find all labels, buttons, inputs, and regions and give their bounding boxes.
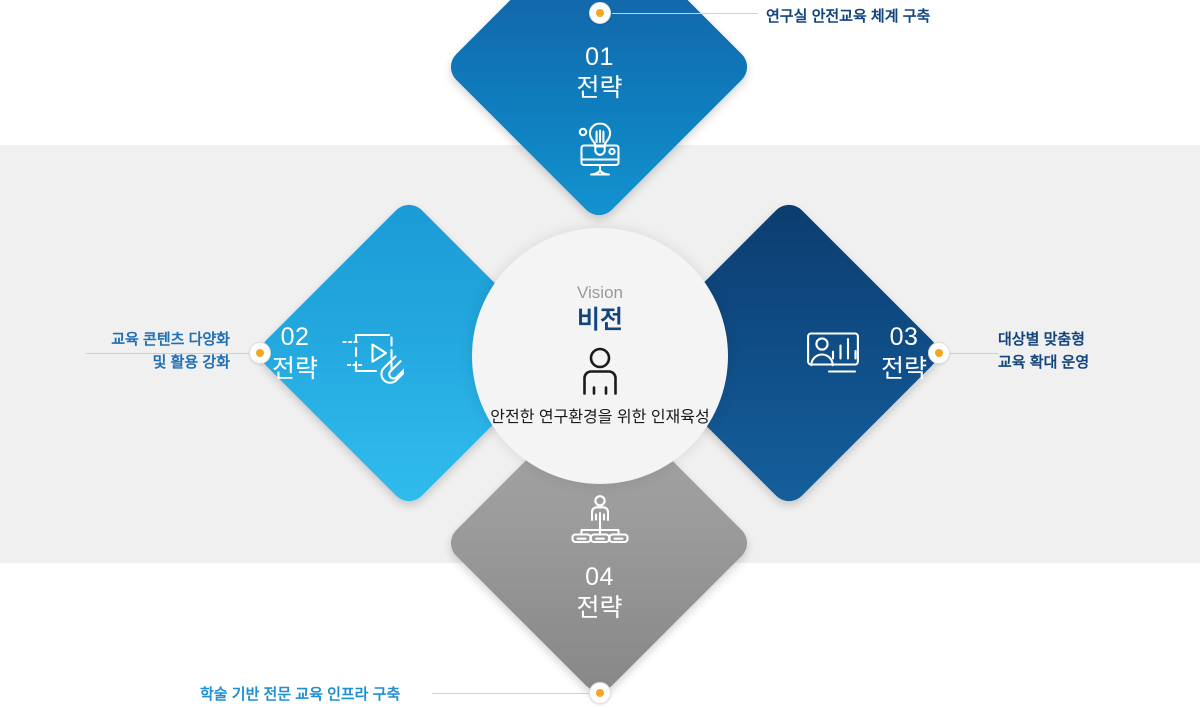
connector-dot-bottom <box>589 682 611 704</box>
connector-dot-top <box>589 2 611 24</box>
strategy-card-01[interactable]: 01 전략 <box>444 0 755 223</box>
connector-line-top <box>612 13 758 14</box>
strategy-diagram: 01 전략 02 전략 <box>0 0 1200 708</box>
callout-04: 학술 기반 전문 교육 인프라 구축 <box>200 683 400 706</box>
vision-title-en: Vision <box>577 284 623 303</box>
vision-circle: Vision 비전 안전한 연구환경을 위한 인재육성 <box>472 228 728 484</box>
connector-line-bottom <box>432 693 589 694</box>
callout-02: 교육 콘텐츠 다양화 및 활용 강화 <box>80 328 230 375</box>
diamond-shape-01 <box>443 0 754 223</box>
vision-title-ko: 비전 <box>577 305 623 335</box>
connector-line-right <box>950 353 998 354</box>
person-icon <box>572 345 628 401</box>
vision-description: 안전한 연구환경을 위한 인재육성 <box>490 407 709 429</box>
callout-03: 대상별 맞춤형 교육 확대 운영 <box>998 328 1158 375</box>
connector-dot-left <box>249 342 271 364</box>
callout-01: 연구실 안전교육 체계 구축 <box>766 5 930 28</box>
connector-dot-right <box>928 342 950 364</box>
